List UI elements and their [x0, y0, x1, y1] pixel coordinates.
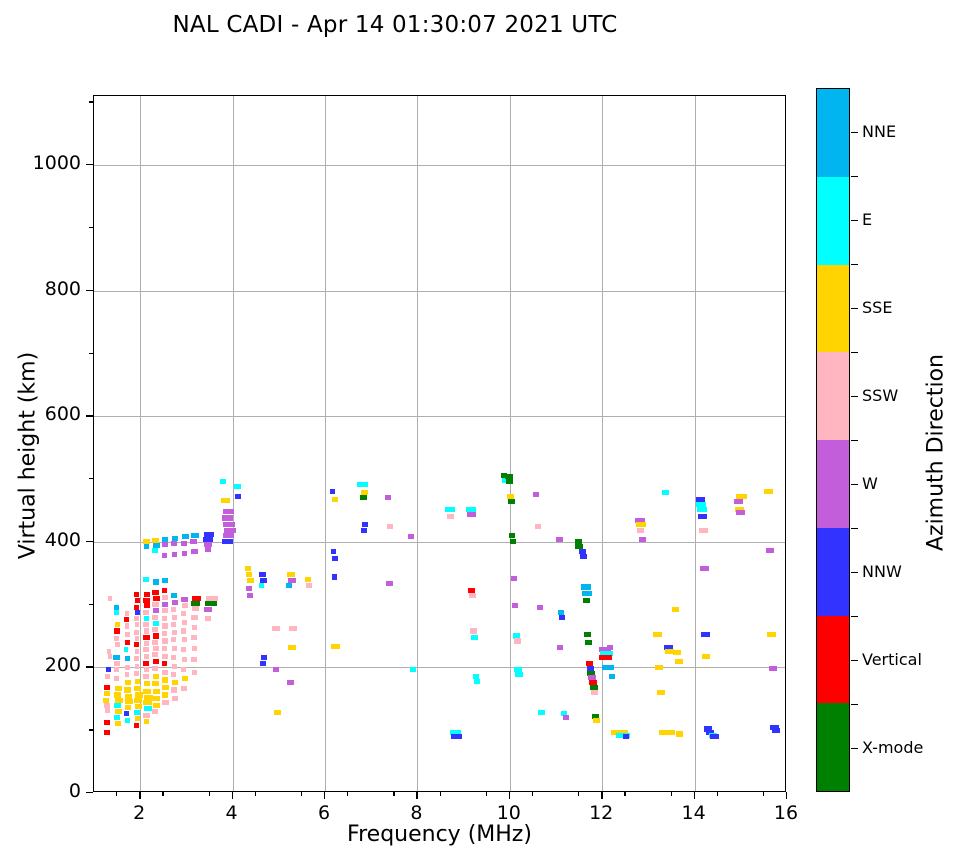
- data-mark: [124, 687, 131, 692]
- data-mark: [153, 674, 159, 679]
- data-mark: [557, 645, 564, 650]
- data-mark: [357, 482, 368, 487]
- data-mark: [509, 533, 516, 538]
- data-mark: [769, 666, 777, 671]
- data-mark: [205, 547, 212, 552]
- data-mark: [639, 537, 646, 542]
- data-mark: [599, 655, 612, 660]
- data-mark: [152, 709, 158, 714]
- data-mark: [144, 719, 150, 724]
- colorbar-segment: [817, 616, 849, 704]
- x-axis-tick: [255, 792, 256, 796]
- x-axis-label: 8: [386, 802, 446, 824]
- data-mark: [767, 632, 776, 637]
- data-mark: [162, 623, 168, 628]
- data-mark: [144, 681, 151, 686]
- data-mark: [181, 647, 187, 652]
- data-mark: [474, 679, 481, 684]
- data-mark: [114, 610, 119, 615]
- data-mark: [125, 699, 132, 704]
- data-mark: [259, 572, 266, 577]
- y-axis-tick: [86, 164, 93, 165]
- data-mark: [143, 610, 149, 615]
- data-mark: [361, 528, 367, 533]
- data-mark: [134, 686, 141, 691]
- data-mark: [135, 636, 140, 641]
- data-mark: [125, 611, 130, 616]
- x-axis-tick: [301, 792, 302, 796]
- data-mark: [306, 583, 313, 588]
- data-mark: [143, 700, 152, 705]
- data-mark: [172, 552, 178, 557]
- x-axis-tick: [786, 792, 787, 799]
- data-mark: [469, 593, 476, 598]
- y-axis-tick: [89, 101, 93, 102]
- data-mark: [591, 690, 598, 695]
- colorbar-label-vertical: Vertical: [862, 650, 922, 669]
- colorbar-label-sse: SSE: [862, 298, 892, 317]
- data-mark: [134, 642, 140, 647]
- colorbar-tick: [851, 660, 858, 661]
- data-mark: [667, 730, 675, 735]
- data-mark: [125, 640, 131, 645]
- data-mark: [386, 581, 393, 586]
- data-mark: [772, 728, 780, 733]
- x-axis-label: 2: [109, 802, 169, 824]
- x-axis-label: 14: [664, 802, 724, 824]
- y-axis-tick: [86, 666, 93, 667]
- x-axis-tick: [717, 792, 718, 796]
- data-mark: [655, 665, 663, 670]
- data-mark: [152, 615, 158, 620]
- data-mark: [152, 652, 158, 657]
- y-axis-tick: [86, 415, 93, 416]
- y-axis-tick: [89, 729, 93, 730]
- data-mark: [171, 672, 177, 677]
- data-mark: [533, 492, 540, 497]
- colorbar-segment: [817, 89, 849, 177]
- data-mark: [580, 554, 587, 559]
- data-mark: [172, 680, 179, 685]
- x-axis-tick: [624, 792, 625, 796]
- data-mark: [700, 566, 709, 571]
- x-axis-tick: [116, 792, 117, 796]
- data-mark: [221, 498, 230, 503]
- data-mark: [182, 676, 189, 681]
- data-mark: [144, 706, 152, 711]
- data-mark: [162, 631, 168, 636]
- data-mark: [162, 700, 169, 705]
- data-mark: [105, 708, 110, 713]
- data-mark: [192, 670, 198, 675]
- figure-canvas: NAL CADI - Apr 14 01:30:07 2021 UTC 2468…: [0, 0, 958, 857]
- data-mark: [115, 686, 122, 691]
- data-mark: [205, 616, 212, 621]
- data-mark: [172, 646, 178, 651]
- data-mark: [246, 572, 253, 577]
- colorbar-tick: [851, 484, 858, 485]
- data-mark: [190, 539, 197, 544]
- data-mark: [362, 522, 368, 527]
- data-mark: [191, 533, 199, 538]
- data-mark: [182, 637, 188, 642]
- data-mark: [360, 495, 367, 500]
- data-mark: [104, 730, 110, 735]
- data-mark: [152, 696, 159, 701]
- data-mark: [172, 600, 179, 605]
- data-mark: [609, 674, 616, 679]
- x-axis-tick: [347, 792, 348, 796]
- data-mark: [191, 549, 198, 554]
- data-mark: [515, 672, 522, 677]
- colorbar-label-nne: NNE: [862, 122, 896, 141]
- data-mark: [451, 734, 462, 739]
- data-mark: [162, 616, 168, 621]
- x-axis-label: 4: [202, 802, 262, 824]
- x-axis-tick: [139, 792, 140, 799]
- data-mark: [105, 674, 110, 679]
- colorbar-segment: [817, 703, 849, 791]
- data-mark: [162, 661, 168, 666]
- data-mark: [181, 686, 188, 691]
- data-mark: [153, 633, 159, 638]
- data-mark: [234, 484, 241, 489]
- data-mark: [223, 522, 235, 527]
- data-mark: [171, 687, 178, 692]
- data-mark: [559, 615, 566, 620]
- data-mark: [701, 632, 710, 637]
- data-mark: [134, 616, 140, 621]
- data-mark: [144, 544, 150, 549]
- data-mark: [143, 577, 149, 582]
- data-mark: [162, 677, 169, 682]
- data-mark: [144, 667, 150, 672]
- data-mark: [332, 574, 338, 579]
- data-mark: [172, 696, 179, 701]
- x-axis-tick: [232, 792, 233, 799]
- data-mark: [134, 630, 140, 635]
- colorbar-tick: [851, 440, 858, 441]
- data-mark: [114, 703, 121, 708]
- data-mark: [192, 646, 198, 651]
- colorbar-tick: [851, 572, 858, 573]
- x-axis-title: Frequency (MHz): [93, 822, 786, 847]
- data-mark: [143, 661, 149, 666]
- x-axis-tick: [486, 792, 487, 796]
- data-mark: [124, 711, 130, 716]
- data-mark: [113, 655, 120, 660]
- data-mark: [108, 654, 113, 659]
- data-mark: [736, 510, 745, 515]
- colorbar-segment: [817, 265, 849, 353]
- data-mark: [657, 690, 665, 695]
- data-mark: [286, 583, 292, 588]
- data-mark: [287, 572, 295, 577]
- data-mark: [114, 715, 120, 720]
- x-axis-tick: [393, 792, 394, 796]
- data-mark: [153, 646, 159, 651]
- data-mark: [171, 593, 178, 598]
- data-mark: [144, 603, 151, 608]
- data-mark: [125, 705, 132, 710]
- data-mark: [152, 590, 159, 595]
- data-mark: [260, 661, 266, 666]
- data-mark: [192, 625, 198, 630]
- x-axis-label: 10: [479, 802, 539, 824]
- data-mark: [171, 541, 178, 546]
- data-mark: [143, 674, 149, 679]
- data-mark: [274, 710, 281, 715]
- data-mark: [135, 704, 142, 709]
- data-mark: [702, 654, 710, 659]
- data-mark: [581, 584, 591, 589]
- colorbar-label-w: W: [862, 474, 878, 493]
- data-mark: [287, 680, 294, 685]
- ionogram-plot-area: [93, 95, 786, 792]
- data-mark: [387, 524, 394, 529]
- data-mark: [223, 533, 234, 538]
- data-mark: [182, 551, 188, 556]
- data-mark: [153, 608, 159, 613]
- colorbar-segment: [817, 177, 849, 265]
- data-mark: [162, 670, 168, 675]
- data-mark: [607, 645, 614, 650]
- data-mark: [125, 672, 130, 677]
- data-mark: [247, 593, 254, 598]
- x-axis-tick: [532, 792, 533, 796]
- data-mark: [672, 607, 679, 612]
- x-axis-tick: [324, 792, 325, 799]
- data-mark: [332, 556, 338, 561]
- data-mark: [467, 512, 475, 517]
- data-mark: [171, 637, 177, 642]
- data-mark: [104, 685, 110, 690]
- data-mark: [585, 640, 592, 645]
- data-mark: [162, 685, 169, 690]
- data-mark: [330, 489, 336, 494]
- data-mark: [152, 627, 158, 632]
- data-mark: [331, 549, 337, 554]
- data-mark: [172, 630, 178, 635]
- data-mark: [408, 534, 414, 539]
- data-mark: [662, 490, 669, 495]
- data-mark: [514, 638, 521, 643]
- colorbar-tick: [851, 176, 858, 177]
- colorbar-segment: [817, 352, 849, 440]
- colorbar-tick: [851, 704, 858, 705]
- data-mark: [152, 602, 159, 607]
- data-mark: [153, 579, 159, 584]
- data-mark: [636, 522, 646, 527]
- data-mark: [766, 548, 774, 553]
- data-mark: [471, 635, 478, 640]
- data-mark: [538, 710, 545, 715]
- colorbar-label-nnw: NNW: [862, 562, 902, 581]
- data-mark: [659, 730, 667, 735]
- data-mark: [115, 642, 120, 647]
- data-mark: [125, 632, 130, 637]
- colorbar-tick: [851, 616, 858, 617]
- data-mark: [125, 665, 130, 670]
- data-mark: [144, 616, 150, 621]
- data-mark: [106, 667, 111, 672]
- data-mark: [114, 661, 120, 666]
- data-mark: [144, 628, 150, 633]
- data-mark: [273, 667, 279, 672]
- data-mark: [623, 734, 630, 739]
- x-axis-tick: [416, 792, 417, 799]
- data-mark: [181, 628, 187, 633]
- data-mark: [162, 608, 168, 613]
- x-axis-tick: [671, 792, 672, 796]
- page-title: NAL CADI - Apr 14 01:30:07 2021 UTC: [0, 12, 790, 38]
- data-mark: [245, 566, 252, 571]
- data-mark: [114, 628, 120, 633]
- data-mark: [134, 656, 140, 661]
- data-mark: [143, 647, 149, 652]
- data-mark: [222, 515, 233, 520]
- data-mark: [222, 539, 232, 544]
- y-axis-label: 1000: [21, 152, 81, 174]
- data-mark: [104, 720, 110, 725]
- x-axis-tick: [601, 792, 602, 799]
- data-mark: [506, 479, 513, 484]
- data-mark: [247, 578, 254, 583]
- data-mark: [153, 621, 159, 626]
- colorbar-tick: [851, 264, 858, 265]
- data-mark: [563, 715, 570, 720]
- x-axis-tick: [578, 792, 579, 796]
- data-mark: [593, 718, 600, 723]
- data-mark: [162, 578, 168, 583]
- data-mark: [510, 539, 517, 544]
- data-mark: [259, 583, 265, 588]
- data-mark: [261, 655, 267, 660]
- data-mark: [205, 601, 217, 606]
- data-mark: [512, 603, 519, 608]
- y-axis-tick: [86, 290, 93, 291]
- data-mark: [162, 692, 169, 697]
- colorbar-label-x-mode: X-mode: [862, 738, 923, 757]
- data-mark: [135, 598, 141, 603]
- data-mark: [153, 596, 160, 601]
- x-axis-label: 16: [756, 802, 816, 824]
- data-mark: [246, 586, 253, 591]
- y-axis-label: 0: [21, 780, 81, 802]
- data-mark: [181, 597, 188, 602]
- y-axis-tick: [86, 792, 93, 793]
- x-axis-tick: [509, 792, 510, 799]
- data-mark: [235, 494, 241, 499]
- y-axis-tick: [86, 541, 93, 542]
- data-mark: [182, 534, 189, 539]
- data-mark: [710, 734, 718, 739]
- data-mark: [289, 626, 297, 631]
- data-mark: [153, 703, 160, 708]
- data-mark: [582, 591, 592, 596]
- data-mark: [162, 595, 168, 600]
- data-mark: [135, 610, 141, 615]
- data-mark: [134, 723, 140, 728]
- data-mark: [181, 611, 187, 616]
- data-mark: [182, 657, 188, 662]
- data-mark: [699, 528, 708, 533]
- data-mark: [125, 623, 130, 628]
- data-mark: [447, 514, 454, 519]
- data-mark: [162, 638, 168, 643]
- data-mark: [162, 542, 168, 547]
- data-mark: [162, 646, 168, 651]
- data-mark: [734, 499, 743, 504]
- data-mark: [637, 528, 644, 533]
- colorbar-tick: [851, 308, 858, 309]
- data-mark: [114, 676, 119, 681]
- data-mark: [673, 650, 680, 655]
- data-mark: [108, 596, 113, 601]
- data-mark: [115, 622, 120, 627]
- data-mark: [192, 606, 199, 611]
- colorbar-tick: [851, 132, 858, 133]
- data-mark: [124, 647, 129, 652]
- colorbar-tick: [851, 352, 858, 353]
- data-mark: [191, 657, 197, 662]
- data-mark: [305, 577, 312, 582]
- data-mark: [162, 654, 168, 659]
- data-mark: [204, 607, 212, 612]
- x-axis-tick: [162, 792, 163, 796]
- data-mark: [223, 509, 233, 514]
- data-mark: [135, 622, 140, 627]
- data-mark: [191, 635, 197, 640]
- data-mark: [153, 689, 160, 694]
- colorbar-tick: [851, 220, 858, 221]
- data-mark: [182, 620, 188, 625]
- data-mark: [144, 654, 150, 659]
- data-mark: [135, 716, 141, 721]
- data-marks-layer: [94, 96, 785, 791]
- data-mark: [331, 644, 340, 649]
- data-mark: [162, 588, 168, 593]
- data-mark: [698, 514, 707, 519]
- colorbar: [816, 88, 850, 792]
- data-mark: [171, 655, 177, 660]
- x-axis-label: 12: [571, 802, 631, 824]
- data-mark: [171, 607, 177, 612]
- data-mark: [172, 615, 178, 620]
- data-mark: [556, 537, 563, 542]
- y-axis-label: 200: [21, 654, 81, 676]
- data-mark: [162, 602, 169, 607]
- data-mark: [144, 592, 151, 597]
- data-mark: [511, 576, 518, 581]
- data-mark: [288, 645, 296, 650]
- x-axis-tick: [440, 792, 441, 796]
- data-mark: [114, 667, 119, 672]
- data-mark: [182, 603, 189, 608]
- data-mark: [115, 709, 122, 714]
- data-mark: [135, 649, 140, 654]
- data-mark: [697, 507, 706, 512]
- data-mark: [143, 713, 150, 718]
- x-axis-tick: [209, 792, 210, 796]
- y-axis-tick: [89, 478, 93, 479]
- x-axis-tick: [694, 792, 695, 799]
- data-mark: [676, 731, 683, 736]
- data-mark: [124, 617, 130, 622]
- data-mark: [584, 632, 591, 637]
- x-axis-label: 6: [294, 802, 354, 824]
- data-mark: [134, 671, 140, 676]
